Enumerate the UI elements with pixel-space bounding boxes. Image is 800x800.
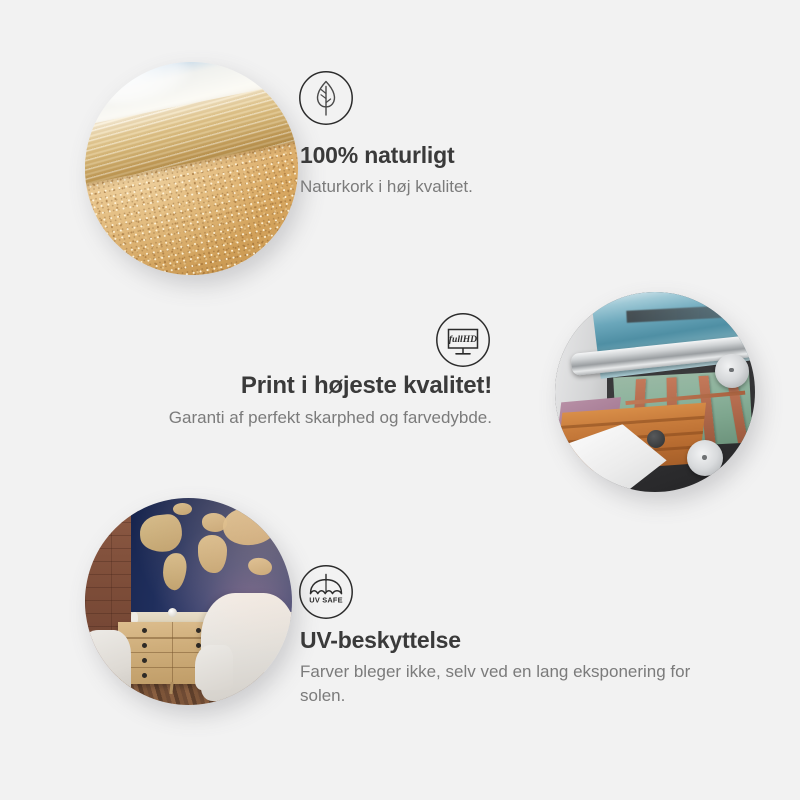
feature-text-uv-protection: UV-beskyttelse Farver bleger ikke, selv …: [300, 627, 720, 707]
fullhd-monitor-icon: fullHD: [435, 312, 491, 368]
photo-roller-disc-bottom: [687, 440, 723, 476]
feature-infographic: 100% naturligt Naturkork i høj kvalitet.: [0, 0, 800, 800]
photo-globe-ornament: [168, 608, 177, 617]
fullhd-icon-label: fullHD: [449, 334, 477, 345]
feature-title: 100% naturligt: [300, 142, 720, 169]
cork-board-photo: [85, 62, 298, 275]
feature-text-print-quality: Print i højeste kvalitet! Garanti af per…: [60, 372, 492, 430]
uv-safe-icon-label: UV SAFE: [309, 596, 342, 605]
feature-title: UV-beskyttelse: [300, 627, 720, 654]
uv-safe-umbrella-icon: UV SAFE: [298, 564, 354, 620]
large-format-printer-photo: [555, 292, 755, 492]
feature-subtitle: Naturkork i høj kvalitet.: [300, 175, 720, 198]
photo-decor-item: [131, 612, 138, 623]
photo-roller-disc-top: [715, 354, 749, 388]
feature-subtitle: Farver bleger ikke, selv ved en lang eks…: [300, 660, 720, 707]
photo-armchair-left: [85, 630, 131, 700]
photo-armchair-right: [201, 593, 292, 701]
leaf-icon: [298, 70, 354, 126]
photo-printer-knob: [647, 430, 665, 448]
living-room-world-map-photo: [85, 498, 292, 705]
feature-title: Print i højeste kvalitet!: [60, 372, 492, 400]
feature-subtitle: Garanti af perfekt skarphed og farvedybd…: [60, 406, 492, 429]
feature-text-natural: 100% naturligt Naturkork i høj kvalitet.: [300, 142, 720, 199]
